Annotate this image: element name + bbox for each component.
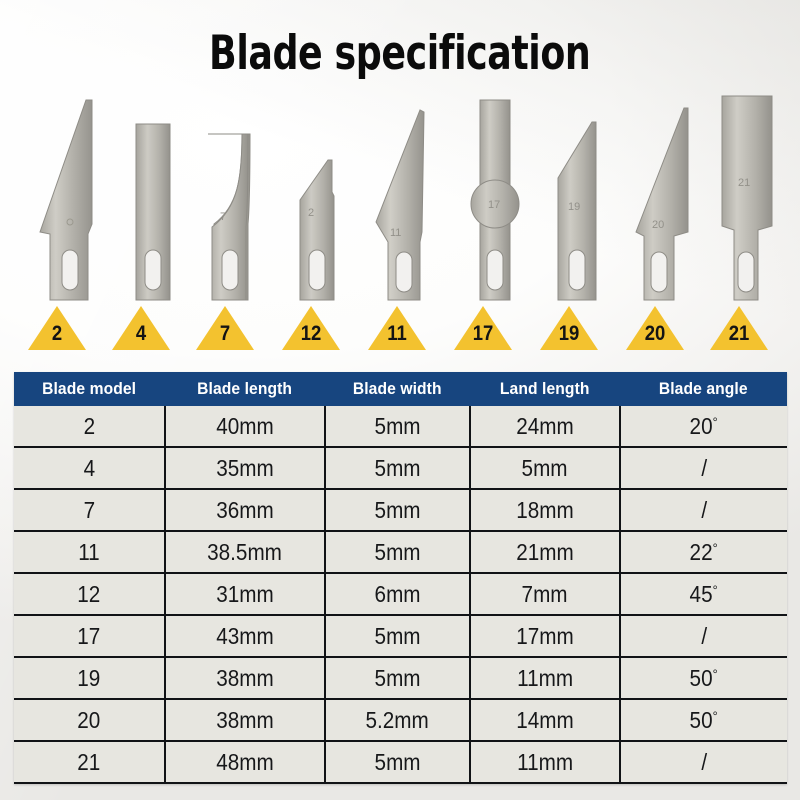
cell-value: 5mm bbox=[374, 539, 420, 566]
badge-blade-17: 17 bbox=[454, 306, 512, 350]
cell-blade-width: 5mm bbox=[325, 531, 470, 573]
cell-value: 45° bbox=[690, 581, 718, 608]
cell-model: 7 bbox=[14, 489, 165, 531]
blade-7-graphic: 7 bbox=[192, 82, 278, 312]
cell-value: 50° bbox=[690, 707, 718, 734]
degree-symbol: ° bbox=[713, 582, 718, 598]
cell-value: 14mm bbox=[516, 707, 574, 734]
blade-11-engraving: 11 bbox=[390, 227, 401, 239]
badge-label: 17 bbox=[457, 323, 508, 344]
blade-illustration-row: 7 2 bbox=[0, 82, 800, 312]
cell-model: 11 bbox=[14, 531, 165, 573]
column-header-blade-model: Blade model bbox=[14, 372, 165, 406]
cell-value: 5mm bbox=[374, 455, 420, 482]
cell-value: 31mm bbox=[216, 581, 274, 608]
cell-model: 4 bbox=[14, 447, 165, 489]
cell-blade-length: 38mm bbox=[165, 657, 325, 699]
cell-value: 38.5mm bbox=[208, 539, 283, 566]
angle-value: / bbox=[701, 623, 707, 649]
cell-value: 22° bbox=[690, 539, 718, 566]
table-row: 20 38mm 5.2mm 14mm 50° bbox=[14, 699, 787, 741]
cell-value: 6mm bbox=[374, 581, 420, 608]
cell-value: 35mm bbox=[216, 455, 274, 482]
blade-image-4 bbox=[110, 82, 196, 312]
blade-image-17: 17 bbox=[452, 82, 538, 312]
blade-11-graphic: 11 bbox=[366, 82, 452, 312]
cell-value: 20 bbox=[77, 707, 100, 734]
cell-value: 11mm bbox=[517, 665, 573, 692]
cell-blade-length: 40mm bbox=[165, 406, 325, 447]
badge-label: 20 bbox=[629, 323, 680, 344]
cell-blade-width: 6mm bbox=[325, 573, 470, 615]
badge-label: 2 bbox=[31, 323, 82, 344]
page-title: Blade specification bbox=[209, 26, 590, 81]
cell-model: 2 bbox=[14, 406, 165, 447]
column-header-label: Blade model bbox=[42, 379, 136, 399]
cell-value: 17mm bbox=[516, 623, 574, 650]
cell-blade-angle: / bbox=[620, 489, 787, 531]
cell-value: 5.2mm bbox=[366, 707, 429, 734]
cell-blade-angle: 45° bbox=[620, 573, 787, 615]
blade-model-badges: 2 4 7 12 11 17 19 20 bbox=[0, 306, 800, 352]
cell-land-length: 14mm bbox=[470, 699, 620, 741]
page-title-container: Blade specification bbox=[0, 26, 800, 81]
blade-20-graphic: 20 bbox=[622, 82, 708, 312]
cell-blade-angle: 50° bbox=[620, 657, 787, 699]
column-header-label: Land length bbox=[500, 379, 590, 399]
blade-2-graphic bbox=[26, 82, 112, 312]
blade-17-graphic: 17 bbox=[452, 82, 538, 312]
column-header-blade-angle: Blade angle bbox=[620, 372, 787, 406]
cell-value: 19 bbox=[77, 665, 100, 692]
cell-value: 11mm bbox=[517, 749, 573, 776]
cell-model: 20 bbox=[14, 699, 165, 741]
cell-value: 5mm bbox=[374, 413, 420, 440]
cell-blade-length: 35mm bbox=[165, 447, 325, 489]
badge-label: 7 bbox=[199, 323, 250, 344]
product-spec-image: Blade specification bbox=[0, 0, 800, 800]
table-row: 11 38.5mm 5mm 21mm 22° bbox=[14, 531, 787, 573]
cell-blade-length: 31mm bbox=[165, 573, 325, 615]
cell-model: 12 bbox=[14, 573, 165, 615]
badge-blade-19: 19 bbox=[540, 306, 598, 350]
badge-label: 4 bbox=[115, 323, 166, 344]
badge-label: 12 bbox=[285, 323, 336, 344]
cell-value: 48mm bbox=[216, 749, 274, 776]
blade-20-engraving: 20 bbox=[652, 219, 664, 231]
cell-value: 21 bbox=[77, 749, 100, 776]
cell-land-length: 21mm bbox=[470, 531, 620, 573]
blade-12-engraving: 2 bbox=[308, 207, 314, 219]
cell-value: 36mm bbox=[216, 497, 274, 524]
cell-value: / bbox=[701, 497, 707, 524]
table-row: 2 40mm 5mm 24mm 20° bbox=[14, 406, 787, 447]
badge-blade-12: 12 bbox=[282, 306, 340, 350]
cell-value: 40mm bbox=[216, 413, 274, 440]
blade-21-graphic: 21 bbox=[706, 82, 792, 312]
table-row: 7 36mm 5mm 18mm / bbox=[14, 489, 787, 531]
cell-value: 20° bbox=[690, 413, 718, 440]
angle-value: / bbox=[701, 749, 707, 775]
cell-value: 21mm bbox=[516, 539, 574, 566]
blade-17-engraving: 17 bbox=[488, 199, 500, 211]
angle-value: 45 bbox=[690, 581, 713, 607]
cell-land-length: 17mm bbox=[470, 615, 620, 657]
cell-value: 5mm bbox=[374, 749, 420, 776]
badge-label: 11 bbox=[371, 323, 422, 344]
table-header: Blade model Blade length Blade width Lan… bbox=[14, 372, 787, 406]
blade-image-2 bbox=[26, 82, 112, 312]
cell-blade-width: 5mm bbox=[325, 489, 470, 531]
blade-19-engraving: 19 bbox=[568, 201, 580, 213]
badge-blade-4: 4 bbox=[112, 306, 170, 350]
blade-12-graphic: 2 bbox=[278, 82, 364, 312]
cell-blade-angle: 22° bbox=[620, 531, 787, 573]
table-row: 12 31mm 6mm 7mm 45° bbox=[14, 573, 787, 615]
cell-value: 24mm bbox=[516, 413, 574, 440]
cell-value: 38mm bbox=[216, 707, 274, 734]
cell-blade-length: 43mm bbox=[165, 615, 325, 657]
column-header-label: Blade angle bbox=[659, 379, 748, 399]
table-row: 21 48mm 5mm 11mm / bbox=[14, 741, 787, 783]
blade-7-engraving: 7 bbox=[220, 211, 226, 223]
column-header-land-length: Land length bbox=[470, 372, 620, 406]
cell-blade-width: 5mm bbox=[325, 447, 470, 489]
cell-value: 7 bbox=[83, 497, 95, 524]
cell-land-length: 11mm bbox=[470, 741, 620, 783]
cell-blade-width: 5mm bbox=[325, 741, 470, 783]
cell-value: 38mm bbox=[216, 665, 274, 692]
cell-land-length: 7mm bbox=[470, 573, 620, 615]
cell-value: 5mm bbox=[374, 665, 420, 692]
cell-value: 2 bbox=[83, 413, 95, 440]
cell-value: 4 bbox=[83, 455, 95, 482]
cell-blade-width: 5.2mm bbox=[325, 699, 470, 741]
degree-symbol: ° bbox=[713, 708, 718, 724]
cell-value: / bbox=[701, 623, 707, 650]
cell-value: 5mm bbox=[522, 455, 568, 482]
blade-image-20: 20 bbox=[622, 82, 708, 312]
cell-value: 11 bbox=[78, 539, 100, 566]
cell-blade-width: 5mm bbox=[325, 406, 470, 447]
badge-blade-2: 2 bbox=[28, 306, 86, 350]
cell-value: / bbox=[701, 749, 707, 776]
degree-symbol: ° bbox=[713, 540, 718, 556]
blade-image-21: 21 bbox=[706, 82, 792, 312]
column-header-label: Blade length bbox=[198, 379, 293, 399]
badge-blade-11: 11 bbox=[368, 306, 426, 350]
cell-blade-width: 5mm bbox=[325, 657, 470, 699]
table-row: 4 35mm 5mm 5mm / bbox=[14, 447, 787, 489]
cell-model: 19 bbox=[14, 657, 165, 699]
badge-blade-21: 21 bbox=[710, 306, 768, 350]
cell-model: 21 bbox=[14, 741, 165, 783]
cell-blade-angle: 50° bbox=[620, 699, 787, 741]
table-row: 17 43mm 5mm 17mm / bbox=[14, 615, 787, 657]
cell-blade-angle: / bbox=[620, 615, 787, 657]
cell-value: 18mm bbox=[516, 497, 574, 524]
column-header-blade-width: Blade width bbox=[325, 372, 470, 406]
cell-value: / bbox=[701, 455, 707, 482]
cell-land-length: 24mm bbox=[470, 406, 620, 447]
degree-symbol: ° bbox=[713, 414, 718, 430]
table-header-row: Blade model Blade length Blade width Lan… bbox=[14, 372, 787, 406]
cell-value: 5mm bbox=[374, 497, 420, 524]
blade-image-12: 2 bbox=[278, 82, 364, 312]
cell-blade-width: 5mm bbox=[325, 615, 470, 657]
cell-land-length: 11mm bbox=[470, 657, 620, 699]
cell-blade-angle: / bbox=[620, 741, 787, 783]
specification-table: Blade model Blade length Blade width Lan… bbox=[14, 372, 787, 784]
table-body: 2 40mm 5mm 24mm 20° 4 35mm 5mm 5mm / 7 3… bbox=[14, 406, 787, 783]
blade-4-graphic bbox=[110, 82, 196, 312]
table-row: 19 38mm 5mm 11mm 50° bbox=[14, 657, 787, 699]
angle-value: 20 bbox=[690, 413, 713, 439]
specification-table-container: Blade model Blade length Blade width Lan… bbox=[14, 372, 787, 784]
column-header-label: Blade width bbox=[353, 379, 442, 399]
angle-value: / bbox=[701, 497, 707, 523]
badge-blade-7: 7 bbox=[196, 306, 254, 350]
blade-image-19: 19 bbox=[536, 82, 622, 312]
cell-blade-angle: / bbox=[620, 447, 787, 489]
cell-value: 12 bbox=[77, 581, 100, 608]
degree-symbol: ° bbox=[713, 666, 718, 682]
cell-land-length: 18mm bbox=[470, 489, 620, 531]
blade-image-11: 11 bbox=[366, 82, 452, 312]
cell-value: 43mm bbox=[216, 623, 274, 650]
cell-blade-angle: 20° bbox=[620, 406, 787, 447]
cell-value: 5mm bbox=[374, 623, 420, 650]
angle-value: 50 bbox=[690, 665, 713, 691]
cell-land-length: 5mm bbox=[470, 447, 620, 489]
cell-blade-length: 38mm bbox=[165, 699, 325, 741]
column-header-blade-length: Blade length bbox=[165, 372, 325, 406]
angle-value: 22 bbox=[690, 539, 713, 565]
cell-value: 17 bbox=[77, 623, 100, 650]
cell-blade-length: 36mm bbox=[165, 489, 325, 531]
cell-value: 7mm bbox=[522, 581, 568, 608]
blade-21-engraving: 21 bbox=[738, 177, 750, 189]
cell-model: 17 bbox=[14, 615, 165, 657]
angle-value: 50 bbox=[690, 707, 713, 733]
blade-19-graphic: 19 bbox=[536, 82, 622, 312]
cell-value: 50° bbox=[690, 665, 718, 692]
blade-image-7: 7 bbox=[192, 82, 278, 312]
badge-label: 19 bbox=[543, 323, 594, 344]
cell-blade-length: 48mm bbox=[165, 741, 325, 783]
badge-blade-20: 20 bbox=[626, 306, 684, 350]
angle-value: / bbox=[701, 455, 707, 481]
badge-label: 21 bbox=[713, 323, 764, 344]
cell-blade-length: 38.5mm bbox=[165, 531, 325, 573]
